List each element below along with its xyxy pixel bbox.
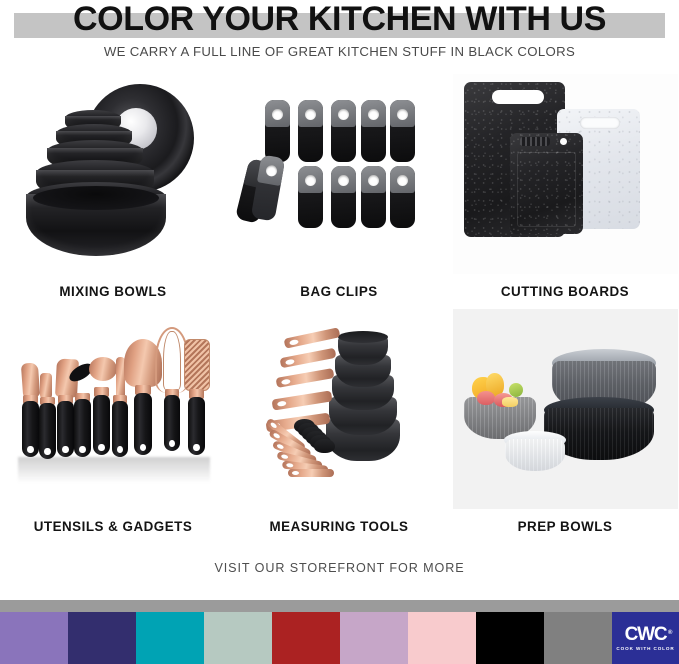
utensil-handle — [39, 403, 56, 459]
measuring-cup-handle — [284, 327, 341, 348]
grater-plate-icon — [184, 339, 210, 391]
clip-hole-icon — [272, 109, 283, 120]
page-title: COLOR YOUR KITCHEN WITH US — [0, 0, 679, 38]
fruit-grapefruit-icon — [477, 391, 495, 405]
handle-hole-icon — [289, 339, 299, 346]
product-cell-utensils-gadgets[interactable]: UTENSILS & GADGETS — [0, 309, 226, 544]
utensil-handle — [57, 401, 74, 457]
product-cell-mixing-bowls[interactable]: MIXING BOWLS — [0, 74, 226, 309]
board-handle-cutout — [492, 90, 544, 104]
swatch-black — [476, 612, 544, 664]
clip-hole-icon — [397, 109, 408, 120]
cutting-boards-art — [452, 76, 678, 274]
utensil-handle — [188, 397, 205, 455]
handle-hole-icon — [286, 463, 293, 468]
handle-hole-icon — [281, 379, 291, 385]
product-label: UTENSILS & GADGETS — [0, 519, 226, 534]
product-label: CUTTING BOARDS — [452, 284, 678, 299]
swatch-mauve — [340, 612, 408, 664]
mixing-bowls-art — [0, 76, 226, 274]
bag-clip — [331, 100, 356, 162]
product-label: BAG CLIPS — [226, 284, 452, 299]
handle-hole-icon — [292, 471, 299, 475]
whisk-wires-icon — [163, 331, 181, 393]
measuring-tools-art — [226, 311, 452, 509]
measuring-cup-handle — [276, 368, 335, 388]
measuring-spoon-bowl — [314, 439, 335, 453]
bag-clip — [361, 100, 386, 162]
clip-hole-icon — [338, 109, 349, 120]
bag-clip — [390, 100, 415, 162]
bag-clip — [298, 100, 323, 162]
board-hang-hole-icon — [560, 138, 567, 145]
product-grid: MIXING BOWLS — [0, 74, 679, 544]
board-handle-cutout — [580, 117, 620, 129]
garlic-press-head-icon — [21, 362, 40, 397]
product-cell-prep-bowls[interactable]: PREP BOWLS — [452, 309, 678, 544]
ladle-bowl-icon — [89, 357, 117, 381]
bowl-rib-texture — [505, 439, 565, 471]
utensil-handle — [22, 401, 39, 457]
registered-trademark-icon: ® — [668, 624, 672, 643]
utensil-handle — [93, 395, 110, 455]
utensils-reflection — [18, 457, 210, 483]
product-cell-cutting-boards[interactable]: CUTTING BOARDS — [452, 74, 678, 309]
measuring-cup-handle — [280, 348, 337, 369]
utensil-handle — [112, 401, 128, 457]
cutting-board-small-dark — [510, 133, 583, 234]
bag-clip — [361, 166, 386, 228]
fruit-pineapple-icon — [502, 397, 518, 407]
utensils-gadgets-art — [0, 311, 226, 509]
product-label: PREP BOWLS — [452, 519, 678, 534]
measuring-cup-rim — [338, 331, 388, 343]
measuring-spoon-handle — [288, 469, 334, 477]
clip-hole-icon — [397, 175, 408, 186]
clip-hole-icon — [305, 175, 316, 186]
swatch-teal — [136, 612, 204, 664]
header: COLOR YOUR KITCHEN WITH US WE CARRY A FU… — [0, 0, 679, 68]
prep-bowl-white — [505, 439, 565, 471]
bag-clips-art — [226, 76, 452, 274]
storefront-note: VISIT OUR STOREFRONT FOR MORE — [0, 561, 679, 575]
product-label: MEASURING TOOLS — [226, 519, 452, 534]
bag-clip — [331, 166, 356, 228]
fruit-lime-icon — [509, 383, 523, 397]
swatch-pink — [408, 612, 476, 664]
swatch-purple — [0, 612, 68, 664]
measuring-spoon-fan — [252, 417, 346, 489]
utensil-handle — [134, 393, 152, 455]
board-grip-ridges — [520, 137, 550, 146]
brand-logo-block: CWC® COOK WITH COLOR — [612, 612, 679, 664]
clip-hole-icon — [305, 109, 316, 120]
measuring-cup-handle — [272, 390, 333, 410]
handle-hole-icon — [273, 432, 281, 439]
swatch-red — [272, 612, 340, 664]
handle-hole-icon — [277, 401, 287, 407]
swatch-navy — [68, 612, 136, 664]
swatch-sage — [204, 612, 272, 664]
clip-hole-icon — [368, 175, 379, 186]
handle-hole-icon — [270, 422, 278, 429]
brand-tagline: COOK WITH COLOR — [616, 646, 674, 651]
bag-clip — [390, 166, 415, 228]
board-inner-groove — [517, 152, 576, 227]
clip-hole-icon — [368, 109, 379, 120]
utensil-handle — [164, 395, 180, 451]
handle-hole-icon — [276, 443, 284, 449]
page-subtitle: WE CARRY A FULL LINE OF GREAT KITCHEN ST… — [0, 44, 679, 59]
prep-bowls-art — [452, 311, 678, 509]
swatch-gray — [544, 612, 612, 664]
color-swatch-strip: CWC® COOK WITH COLOR — [0, 612, 679, 664]
clip-hole-icon — [338, 175, 349, 186]
handle-hole-icon — [285, 359, 295, 366]
utensil-handle — [74, 399, 91, 457]
product-cell-bag-clips[interactable]: BAG CLIPS — [226, 74, 452, 309]
handle-hole-icon — [281, 454, 289, 460]
bag-clip — [298, 166, 323, 228]
swatch-strip-top-bar — [0, 600, 679, 612]
bag-clip — [265, 100, 290, 162]
product-cell-measuring-tools[interactable]: MEASURING TOOLS — [226, 309, 452, 544]
bowl-1-interior — [33, 186, 159, 210]
brand-mark: CWC® — [625, 625, 667, 644]
press-arm-icon — [40, 373, 52, 399]
product-catalog-image: COLOR YOUR KITCHEN WITH US WE CARRY A FU… — [0, 0, 679, 664]
brand-mark-text: CWC — [625, 624, 667, 645]
product-label: MIXING BOWLS — [0, 284, 226, 299]
